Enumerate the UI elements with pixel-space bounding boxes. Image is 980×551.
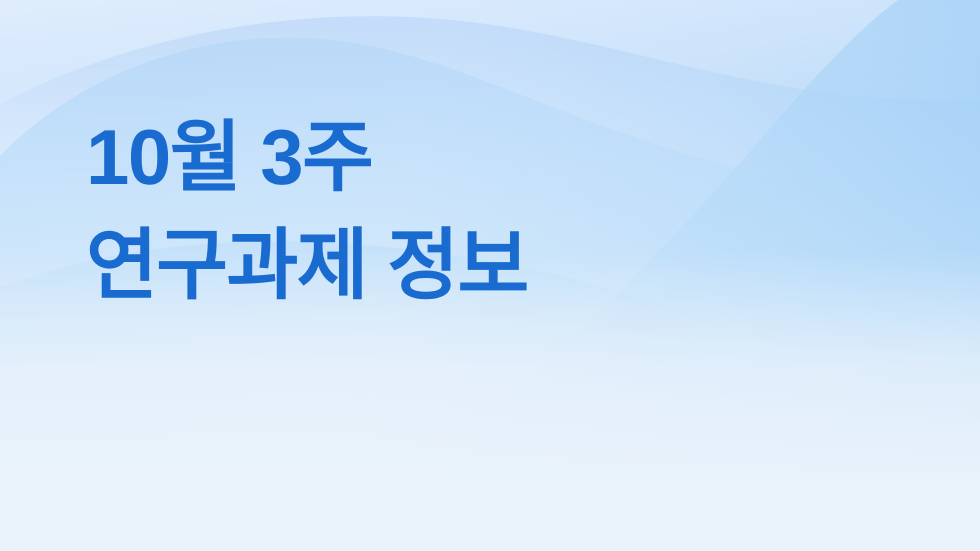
page-title: 10월 3주 연구과제 정보 bbox=[86, 104, 528, 319]
title-slide: 10월 3주 연구과제 정보 bbox=[0, 0, 980, 551]
title-line-1: 10월 3주 bbox=[86, 104, 528, 212]
title-line-2: 연구과제 정보 bbox=[86, 212, 528, 320]
